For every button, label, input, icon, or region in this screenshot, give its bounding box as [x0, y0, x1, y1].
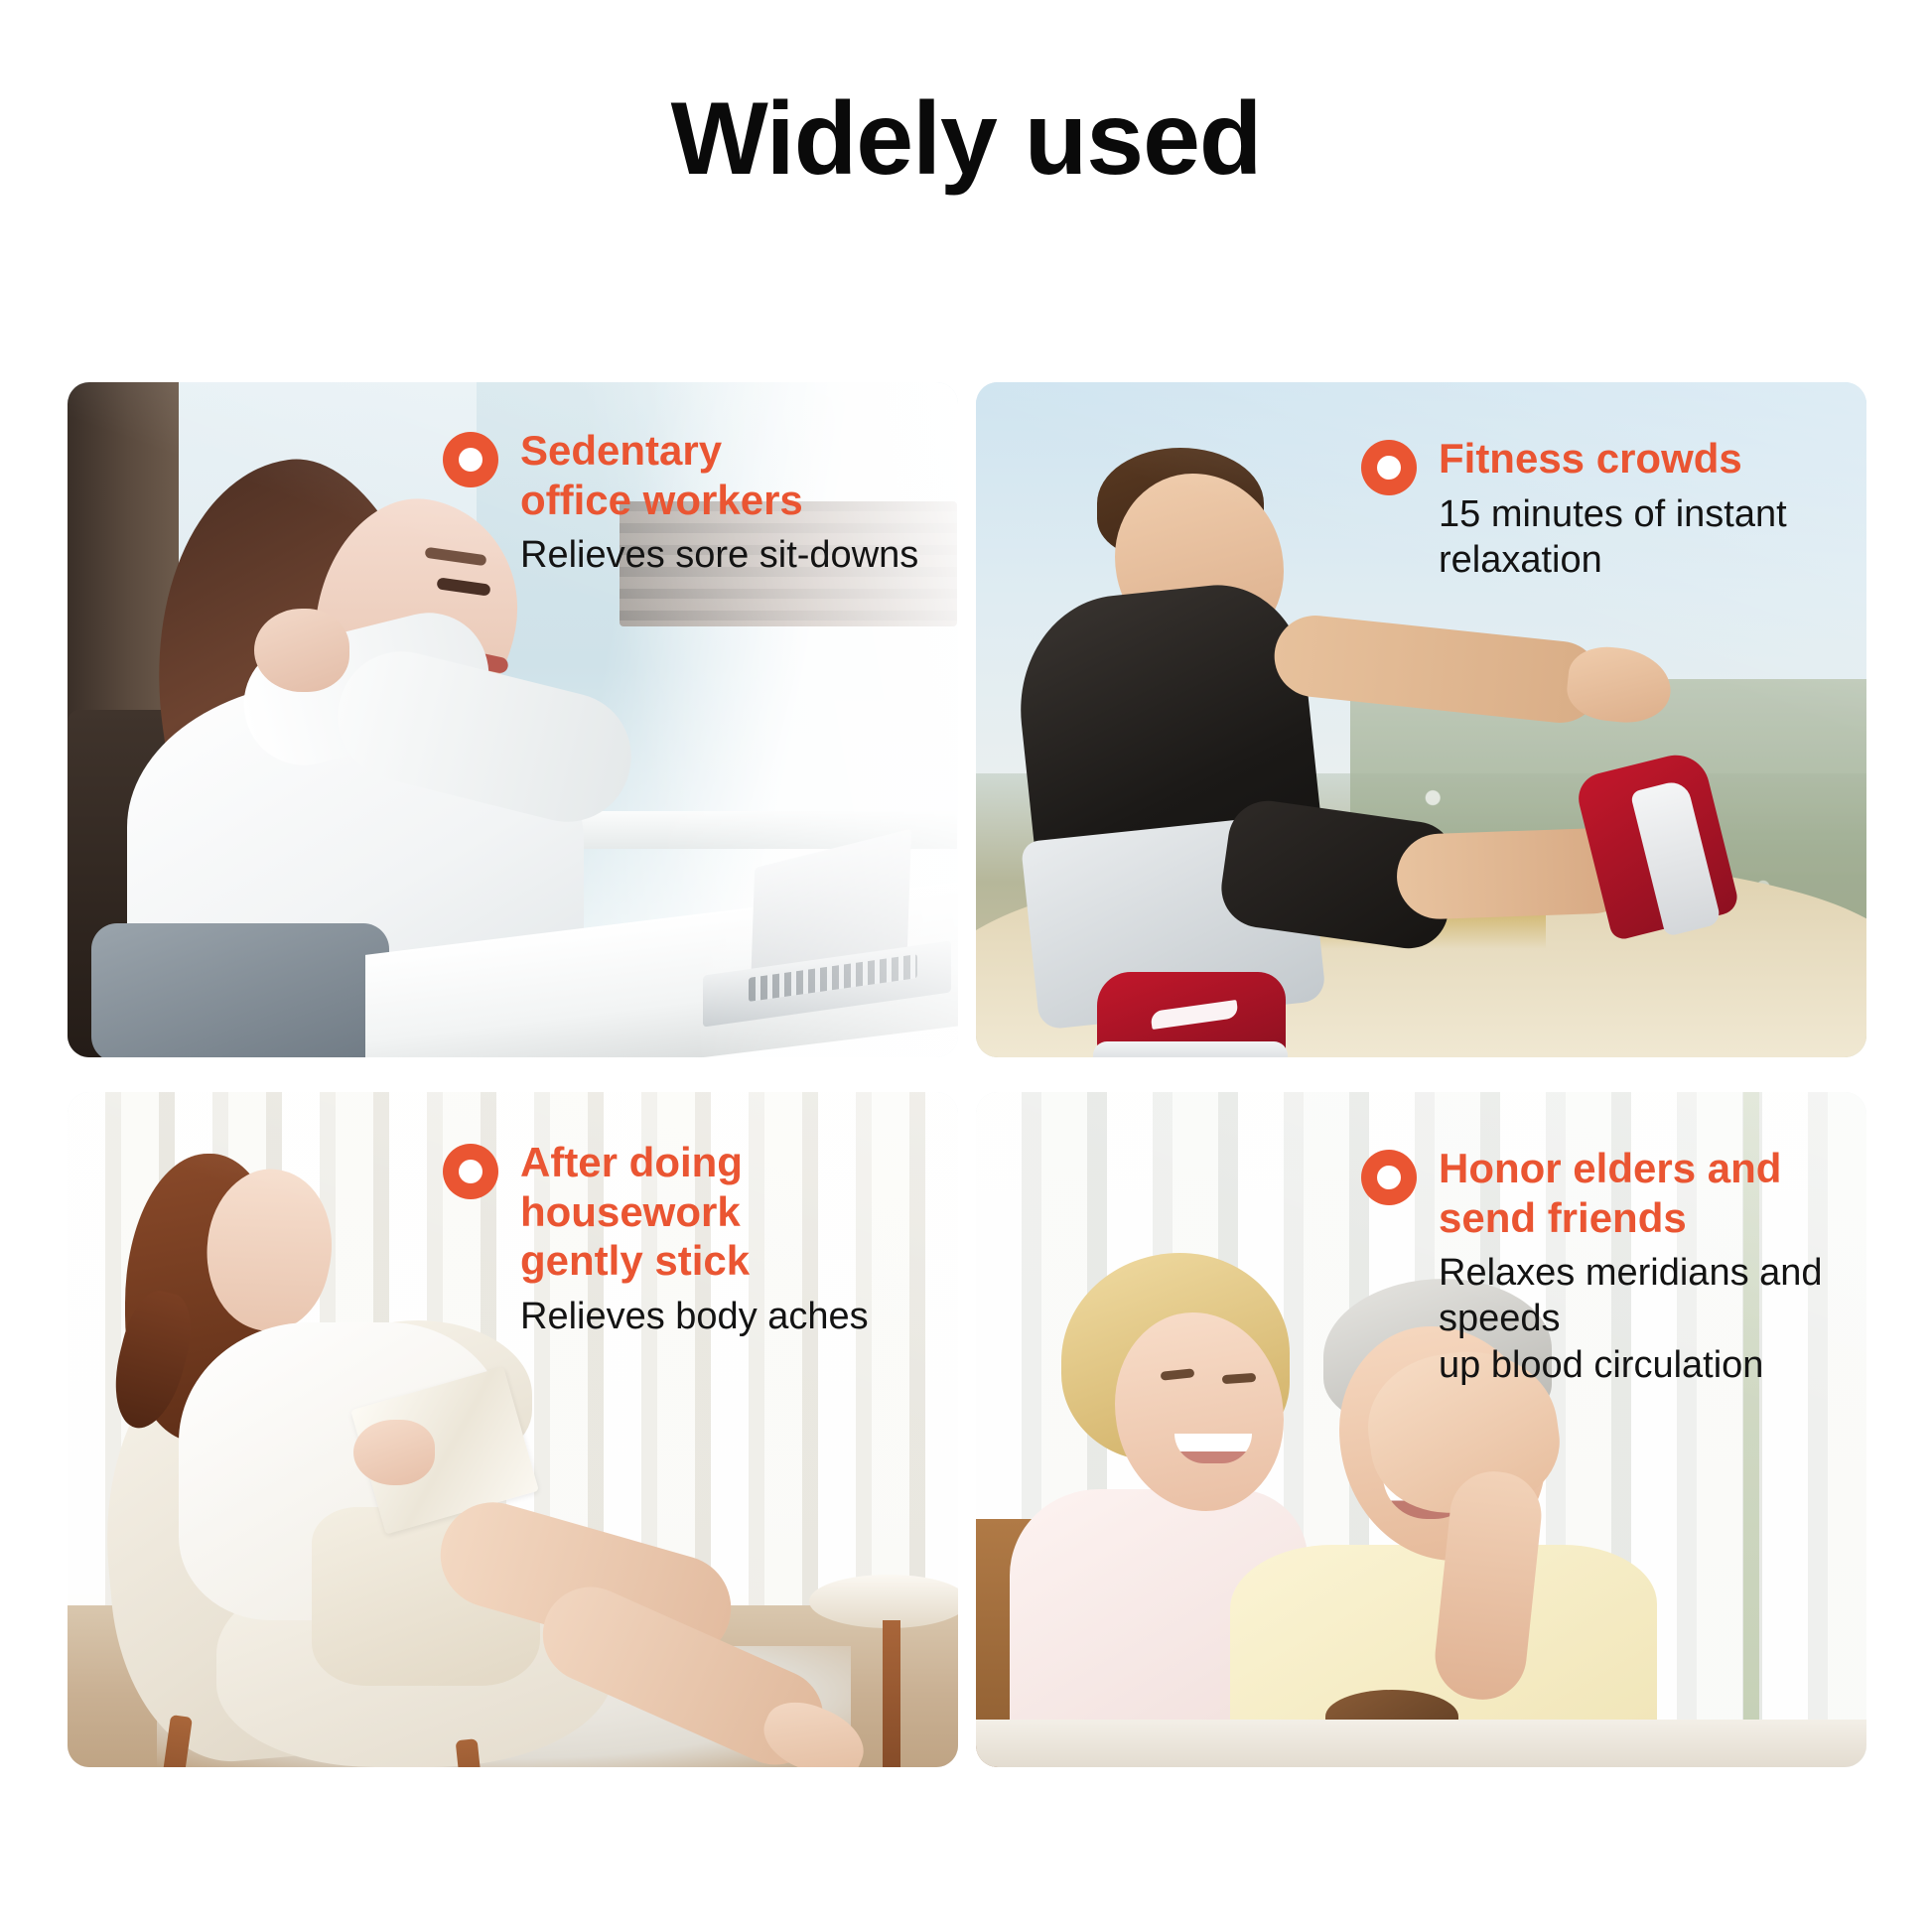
ring-bullet-icon	[1361, 440, 1417, 495]
caption-text: Fitness crowds 15 minutes of instant rel…	[1439, 434, 1787, 583]
ring-bullet-icon	[443, 1144, 498, 1199]
card-honor-elders[interactable]: Honor elders and send friends Relaxes me…	[976, 1092, 1866, 1767]
card-headline: Honor elders and send friends	[1439, 1144, 1866, 1242]
page-title: Widely used	[0, 85, 1932, 194]
hand-shape	[254, 609, 349, 692]
card-sedentary-office-workers[interactable]: Sedentary office workers Relieves sore s…	[68, 382, 958, 1057]
caption-text: After doing housework gently stick Relie…	[520, 1138, 958, 1339]
card-subline: Relaxes meridians and speeds up blood ci…	[1439, 1250, 1866, 1388]
ring-bullet-icon	[1361, 1150, 1417, 1205]
ring-bullet-icon	[443, 432, 498, 487]
card-after-housework[interactable]: After doing housework gently stick Relie…	[68, 1092, 958, 1767]
caption-text: Honor elders and send friends Relaxes me…	[1439, 1144, 1866, 1388]
card-headline: Fitness crowds	[1439, 434, 1787, 483]
card-subline: Relieves body aches	[520, 1294, 958, 1339]
caption-honor-elders: Honor elders and send friends Relaxes me…	[1361, 1144, 1866, 1388]
pants-shape	[91, 923, 389, 1057]
caption-text: Sedentary office workers Relieves sore s…	[520, 426, 918, 578]
caption-after-housework: After doing housework gently stick Relie…	[443, 1138, 958, 1339]
hand-shape	[353, 1420, 435, 1485]
cards-grid: Sedentary office workers Relieves sore s…	[68, 382, 1866, 1767]
table-shape	[976, 1720, 1866, 1767]
card-subline: Relieves sore sit-downs	[520, 532, 918, 578]
card-subline: 15 minutes of instant relaxation	[1439, 491, 1787, 584]
card-headline: After doing housework gently stick	[520, 1138, 958, 1286]
card-fitness-crowds[interactable]: Fitness crowds 15 minutes of instant rel…	[976, 382, 1866, 1057]
side-table-leg-shape	[883, 1620, 900, 1767]
caption-fitness-crowds: Fitness crowds 15 minutes of instant rel…	[1361, 434, 1787, 583]
caption-sedentary-office-workers: Sedentary office workers Relieves sore s…	[443, 426, 918, 578]
sneaker-sole-shape	[1093, 1041, 1288, 1057]
card-headline: Sedentary office workers	[520, 426, 918, 524]
